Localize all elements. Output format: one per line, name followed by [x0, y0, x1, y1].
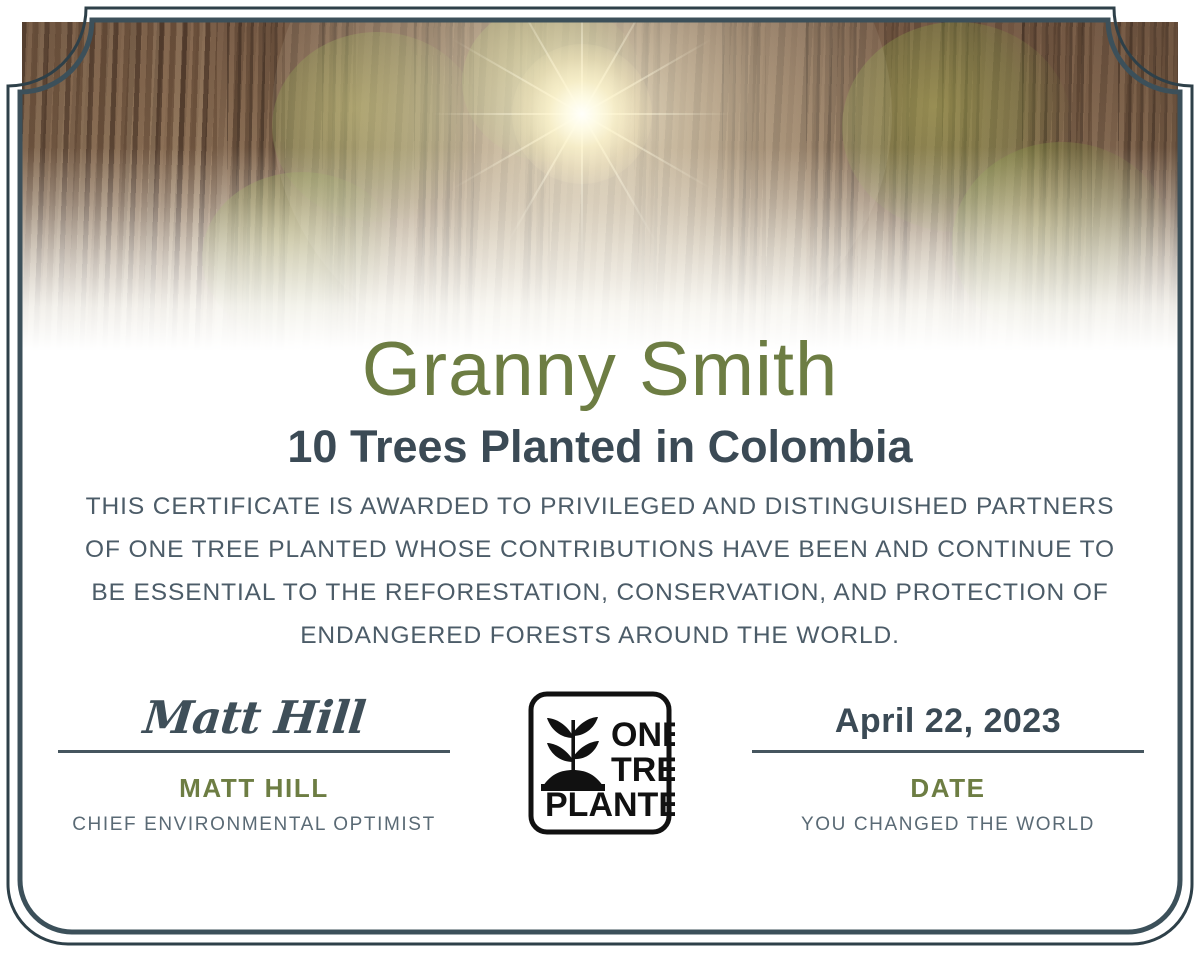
body-line: ENDANGERED FORESTS AROUND THE WORLD.	[50, 614, 1150, 657]
logo-line-tree: TREE	[611, 751, 675, 789]
logo-svg: ONE TREE PLANTED	[525, 688, 675, 838]
signature-script: Matt Hill	[55, 688, 454, 750]
signature-name: MATT HILL	[58, 775, 450, 801]
certificate-body-text: THIS CERTIFICATE IS AWARDED TO PRIVILEGE…	[50, 485, 1150, 657]
body-line: OF ONE TREE PLANTED WHOSE CONTRIBUTIONS …	[50, 528, 1150, 571]
date-rule	[752, 750, 1144, 753]
certificate: Granny Smith 10 Trees Planted in Colombi…	[0, 0, 1200, 960]
date-value: April 22, 2023	[752, 688, 1144, 750]
signature-rule	[58, 750, 450, 753]
signature-title: CHIEF ENVIRONMENTAL OPTIMIST	[58, 815, 450, 834]
logo-line-one: ONE	[611, 716, 675, 754]
body-line: THIS CERTIFICATE IS AWARDED TO PRIVILEGE…	[50, 485, 1150, 528]
date-block: April 22, 2023 DATE YOU CHANGED THE WORL…	[752, 688, 1144, 834]
body-line: BE ESSENTIAL TO THE REFORESTATION, CONSE…	[50, 571, 1150, 614]
certificate-content: Granny Smith 10 Trees Planted in Colombi…	[0, 0, 1200, 960]
achievement-headline: 10 Trees Planted in Colombia	[0, 424, 1200, 469]
date-label: DATE	[752, 775, 1144, 801]
date-caption: YOU CHANGED THE WORLD	[752, 815, 1144, 834]
signature-block: Matt Hill MATT HILL CHIEF ENVIRONMENTAL …	[58, 688, 450, 834]
certificate-footer: Matt Hill MATT HILL CHIEF ENVIRONMENTAL …	[0, 688, 1200, 858]
logo-line-planted: PLANTED	[545, 786, 675, 824]
sapling-icon	[541, 717, 605, 791]
one-tree-planted-logo: ONE TREE PLANTED	[525, 688, 675, 838]
recipient-name: Granny Smith	[0, 332, 1200, 408]
